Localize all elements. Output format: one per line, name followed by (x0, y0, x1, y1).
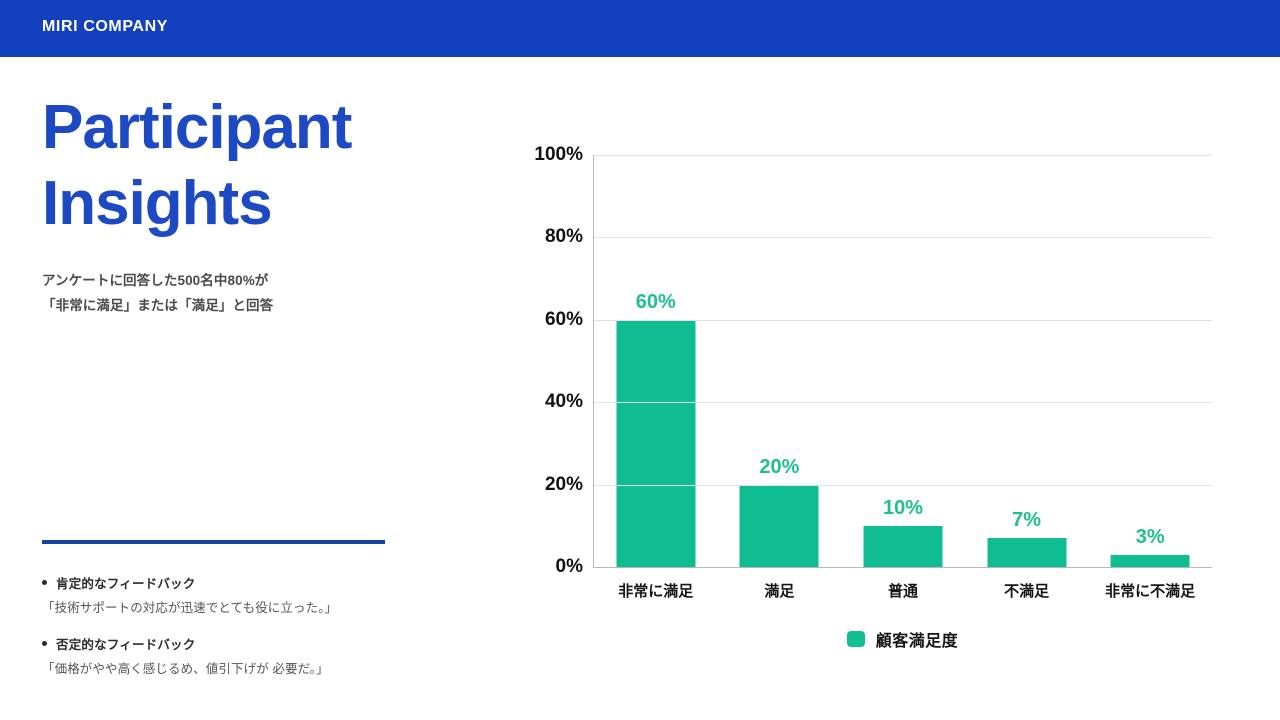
feedback-positive-quote: 「技術サポートの対応が迅速でとても役に立った。」 (42, 597, 442, 616)
x-axis-tick-label: 普通 (888, 580, 918, 601)
chart-gridline: 60% (594, 320, 1212, 321)
y-axis-tick-label: 0% (556, 556, 583, 578)
y-axis-tick-label: 20% (545, 474, 583, 496)
subtitle: アンケートに回答した500名中80%が 「非常に満足」または「満足」と回答 (42, 268, 472, 318)
satisfaction-bar-chart: 60%非常に満足20%満足10%普通7%不満足3%非常に不満足 100%80%6… (512, 140, 1232, 670)
chart-bar[interactable] (616, 320, 695, 567)
legend-swatch-icon (847, 631, 865, 647)
bullet-dot-icon (42, 641, 47, 646)
chart-bar-cell[interactable]: 10%普通 (841, 155, 965, 567)
chart-gridline: 80% (594, 237, 1212, 238)
chart-bar-value-label: 20% (759, 456, 799, 479)
chart-gridline: 100% (594, 155, 1212, 156)
chart-gridline: 20% (594, 485, 1212, 486)
chart-legend: 顧客満足度 (593, 627, 1212, 651)
feedback-positive-header: 肯定的なフィードバック (42, 573, 442, 592)
chart-bar-value-label: 10% (883, 497, 923, 520)
feedback-negative-title: 否定的なフィードバック (56, 634, 195, 653)
x-axis-tick-label: 満足 (764, 580, 794, 601)
feedback-negative-header: 否定的なフィードバック (42, 634, 442, 653)
chart-gridline: 40% (594, 402, 1212, 403)
bullet-dot-icon (42, 580, 47, 585)
chart-bar[interactable] (863, 526, 942, 567)
feedback-list: 肯定的なフィードバック 「技術サポートの対応が迅速でとても役に立った。」 否定的… (42, 573, 442, 695)
y-axis-tick-label: 40% (545, 391, 583, 413)
chart-bar-value-label: 3% (1136, 526, 1165, 549)
x-axis-tick-label: 非常に不満足 (1105, 580, 1195, 601)
y-axis-tick-label: 60% (545, 309, 583, 331)
chart-bar-cell[interactable]: 60%非常に満足 (594, 155, 718, 567)
chart-plot-area: 60%非常に満足20%満足10%普通7%不満足3%非常に不満足 100%80%6… (593, 155, 1212, 568)
chart-bar[interactable] (1111, 555, 1190, 567)
subtitle-line-1: アンケートに回答した500名中80%が (42, 268, 472, 293)
feedback-positive-title: 肯定的なフィードバック (56, 573, 195, 592)
x-axis-tick-label: 不満足 (1004, 580, 1049, 601)
page-title: Participant Insights (42, 90, 442, 242)
chart-bar-cell[interactable]: 7%不満足 (965, 155, 1089, 567)
list-item: 肯定的なフィードバック 「技術サポートの対応が迅速でとても役に立った。」 (42, 573, 442, 616)
list-item: 否定的なフィードバック 「価格がやや高く感じるめ、値引下げが 必要だ。」 (42, 634, 442, 677)
top-brand-bar: MIRI COMPANY (0, 0, 1280, 57)
x-axis-tick-label: 非常に満足 (618, 580, 693, 601)
feedback-negative-quote: 「価格がやや高く感じるめ、値引下げが 必要だ。」 (42, 658, 442, 677)
chart-bar-cell[interactable]: 20%満足 (718, 155, 842, 567)
chart-bar-cell[interactable]: 3%非常に不満足 (1088, 155, 1212, 567)
slide: MIRI COMPANY Participant Insights アンケートに… (0, 0, 1280, 720)
legend-label: 顧客満足度 (876, 627, 959, 651)
chart-bar[interactable] (740, 485, 819, 567)
left-column: Participant Insights アンケートに回答した500名中80%が… (42, 90, 472, 318)
section-divider (42, 540, 385, 544)
chart-bar-value-label: 7% (1012, 509, 1041, 532)
y-axis-tick-label: 100% (534, 144, 583, 166)
subtitle-line-2: 「非常に満足」または「満足」と回答 (42, 293, 472, 318)
chart-bar[interactable] (987, 538, 1066, 567)
chart-bar-value-label: 60% (636, 291, 676, 314)
y-axis-tick-label: 80% (545, 226, 583, 248)
chart-gridline: 0% (594, 567, 1212, 568)
chart-bars: 60%非常に満足20%満足10%普通7%不満足3%非常に不満足 (594, 155, 1212, 567)
company-name: MIRI COMPANY (42, 18, 168, 36)
